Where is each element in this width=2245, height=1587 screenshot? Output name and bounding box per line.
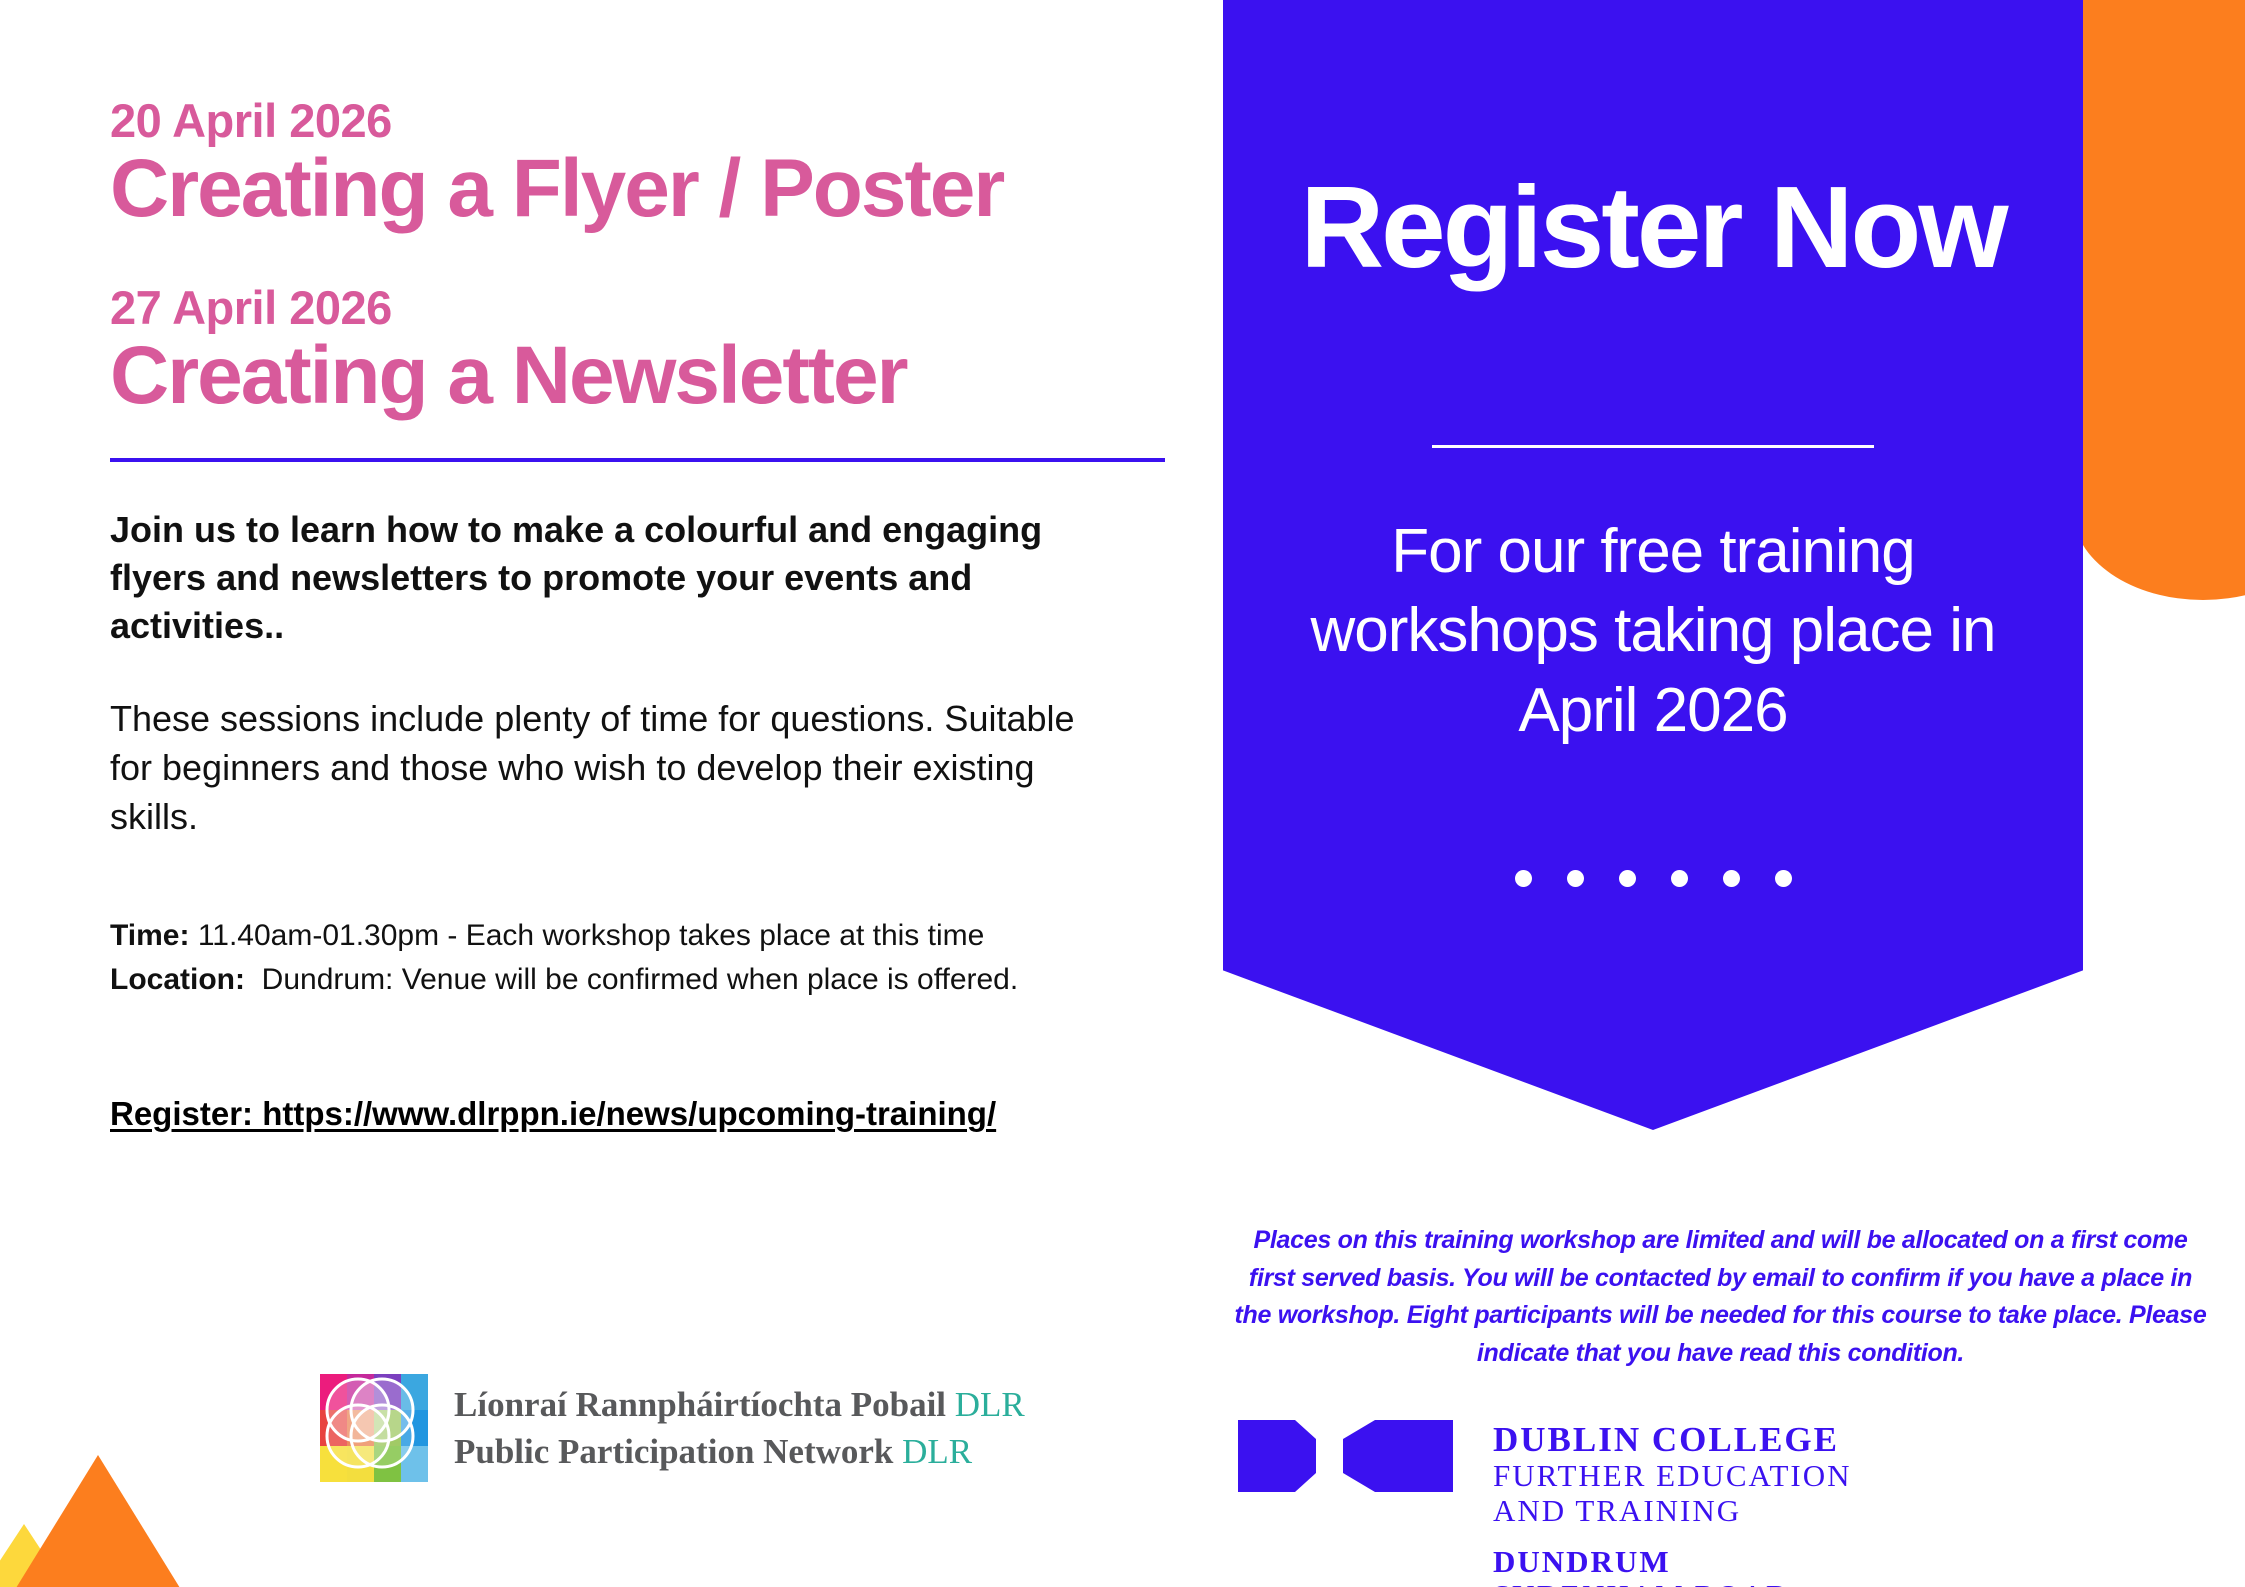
lead-paragraph: Join us to learn how to make a colourful… <box>110 506 1120 651</box>
dot-icon <box>1619 870 1636 887</box>
dc-line-3: AND TRAINING <box>1493 1494 1852 1529</box>
body-paragraph: These sessions include plenty of time fo… <box>110 695 1090 842</box>
dot-icon <box>1671 870 1688 887</box>
ribbon-divider-line <box>1432 445 1874 448</box>
dc-line-4: DUNDRUM <box>1493 1545 1852 1580</box>
ppn-logo-text: Líonraí Rannpháirtíochta Pobail DLR Publ… <box>454 1381 1025 1476</box>
ribbon-dot-row <box>1223 870 2083 887</box>
time-value: 11.40am-01.30pm - Each workshop takes pl… <box>198 919 985 952</box>
register-link[interactable]: Register: https://www.dlrppn.ie/news/upc… <box>110 1095 996 1133</box>
register-ribbon-banner: Register Now For our free training works… <box>1223 0 2083 1130</box>
time-detail: Time: 11.40am-01.30pm - Each workshop ta… <box>110 914 1180 958</box>
session-1-date: 20 April 2026 <box>110 96 1180 145</box>
location-detail: Location: Dundrum: Venue will be confirm… <box>110 958 1180 1002</box>
ppn-venn-icon <box>320 1374 428 1482</box>
dc-line-1: DUBLIN COLLEGE <box>1493 1420 1852 1459</box>
disclaimer-text: Places on this training workshop are lim… <box>1228 1222 2213 1372</box>
dot-icon <box>1775 870 1792 887</box>
left-content-column: 20 April 2026 Creating a Flyer / Poster … <box>110 96 1180 1133</box>
ribbon-title: Register Now <box>1223 160 2083 294</box>
orange-bar-shape <box>2073 0 2245 600</box>
orange-triangle-shape <box>16 1455 180 1587</box>
ppn-line-english: Public Participation Network DLR <box>454 1428 1025 1475</box>
dc-line-2: FURTHER EDUCATION <box>1493 1459 1852 1494</box>
ppn-irish-dlr: DLR <box>955 1385 1025 1424</box>
location-label: Location: <box>110 963 245 996</box>
session-2-title: Creating a Newsletter <box>110 334 1180 418</box>
dc-monogram-icon <box>1238 1420 1453 1497</box>
ribbon-subtitle: For our free training workshops taking p… <box>1287 512 2019 750</box>
dot-icon <box>1515 870 1532 887</box>
session-2-date: 27 April 2026 <box>110 283 1180 332</box>
dot-icon <box>1723 870 1740 887</box>
ppn-logo: Líonraí Rannpháirtíochta Pobail DLR Publ… <box>320 1374 1025 1482</box>
time-label: Time: <box>110 919 189 952</box>
ppn-english-main: Public Participation Network <box>454 1432 902 1471</box>
location-value: Dundrum: Venue will be confirmed when pl… <box>262 963 1019 996</box>
ppn-english-dlr: DLR <box>902 1432 972 1471</box>
dublin-college-logo: DUBLIN COLLEGE FURTHER EDUCATION AND TRA… <box>1238 1420 1852 1587</box>
dc-logo-text: DUBLIN COLLEGE FURTHER EDUCATION AND TRA… <box>1493 1420 1852 1587</box>
dc-line-5: SYDENHAM ROAD <box>1493 1579 1852 1587</box>
dot-icon <box>1567 870 1584 887</box>
poster-canvas: 20 April 2026 Creating a Flyer / Poster … <box>0 0 2245 1587</box>
horizontal-divider <box>110 458 1165 462</box>
ppn-irish-main: Líonraí Rannpháirtíochta Pobail <box>454 1385 955 1424</box>
ppn-line-irish: Líonraí Rannpháirtíochta Pobail DLR <box>454 1381 1025 1428</box>
session-1-title: Creating a Flyer / Poster <box>110 147 1180 231</box>
